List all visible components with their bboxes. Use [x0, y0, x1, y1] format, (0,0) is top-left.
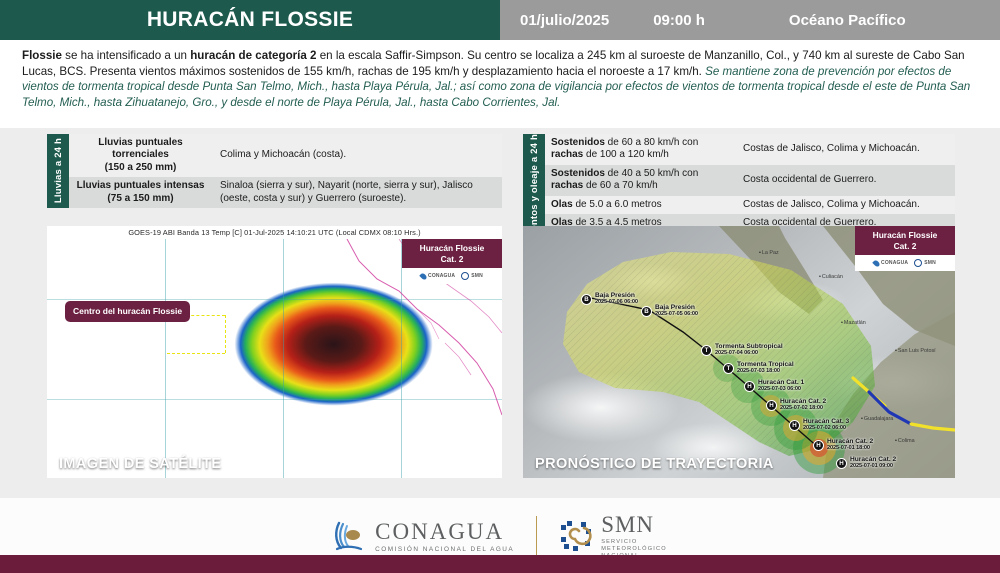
track-marker-icon: H: [836, 458, 847, 469]
goes-header-text: GOES-19 ABI Banda 13 Temp [C] 01-Jul-202…: [47, 226, 502, 239]
satellite-image: Centro del huracán Flossie Huracán Floss…: [47, 239, 502, 478]
satellite-badge-text: Huracán Flossie Cat. 2: [402, 239, 502, 268]
rain-areas-cell: Sinaloa (sierra y sur), Nayarit (norte, …: [212, 177, 502, 208]
satellite-badge-line2: Cat. 2: [404, 254, 500, 265]
track-marker-icon: B: [581, 294, 592, 305]
spiral-icon: [914, 259, 922, 267]
track-point: H Huracán Cat. 3 2025-07-02 06:00: [789, 418, 849, 433]
rain-type-cell: Lluvias puntuales intensas (75 a 150 mm): [69, 177, 212, 208]
wind-bold-2: rachas: [551, 180, 583, 191]
wave-bold-1: Olas: [551, 199, 573, 210]
satellite-badge: Huracán Flossie Cat. 2 CONAGUA SMN: [402, 239, 502, 284]
track-marker-icon: T: [701, 345, 712, 356]
wind-table-side-label-text: Vientos y oleaje a 24 h: [529, 134, 540, 240]
wind-value-cell: Sostenidos de 40 a 50 km/h con rachas de…: [545, 165, 735, 196]
rain-areas-cell: Colima y Michoacán (costa).: [212, 134, 502, 177]
wave-value-cell: Olas de 5.0 a 6.0 metros: [545, 196, 735, 214]
conagua-logo: CONAGUA COMISIÓN NACIONAL DEL AGUA: [333, 519, 514, 553]
wind-table-side-label: Vientos y oleaje a 24 h: [523, 134, 545, 240]
track-point-datetime: 2025-07-06 06:00: [595, 299, 638, 306]
track-marker-icon: H: [789, 420, 800, 431]
track-point: H Huracán Cat. 2 2025-07-01 09:00: [836, 456, 896, 471]
track-point-text: Huracán Cat. 2 2025-07-01 18:00: [827, 438, 873, 453]
track-point-datetime: 2025-07-01 09:00: [850, 463, 896, 470]
wind-bold-1: Sostenidos: [551, 137, 605, 148]
forecast-badge-line2: Cat. 2: [857, 241, 953, 252]
table-row: Lluvias puntuales intensas (75 a 150 mm)…: [69, 177, 502, 208]
infographic-page: HURACÁN FLOSSIE 01/julio/2025 09:00 h Oc…: [0, 0, 1000, 573]
smn-wordmark: SMN SERVICIO METEOROLÓGICO NACIONAL: [601, 512, 667, 560]
wind-bold-2: rachas: [551, 149, 583, 160]
forecast-panel-caption: PRONÓSTICO DE TRAYECTORIA: [535, 456, 774, 472]
city-label: La Paz: [759, 250, 779, 256]
rain-range-label: (75 a 150 mm): [107, 193, 173, 205]
header-bar: HURACÁN FLOSSIE 01/julio/2025 09:00 h Oc…: [0, 0, 1000, 40]
footer-accent-bar: [0, 555, 1000, 573]
track-marker-icon: T: [723, 363, 734, 374]
table-row: Sostenidos de 60 a 80 km/h con rachas de…: [545, 134, 955, 165]
smn-name: SMN: [601, 512, 667, 538]
track-point: B Baja Presión 2025-07-06 06:00: [581, 292, 638, 307]
track-point: H Huracán Cat. 2 2025-07-01 18:00: [813, 438, 873, 453]
page-title: HURACÁN FLOSSIE: [147, 8, 353, 32]
hurricane-center-label: Centro del huracán Flossie: [73, 306, 182, 316]
rain-table: Lluvias a 24 h Lluvias puntuales torrenc…: [47, 134, 502, 208]
track-point: H Huracán Cat. 2 2025-07-02 18:00: [766, 398, 826, 413]
rain-type-label: Lluvias puntuales torrenciales: [75, 137, 206, 162]
tables-section: Lluvias a 24 h Lluvias puntuales torrenc…: [0, 128, 1000, 220]
rain-table-rows: Lluvias puntuales torrenciales (150 a 25…: [69, 134, 502, 208]
conagua-subtitle: COMISIÓN NACIONAL DEL AGUA: [375, 546, 514, 553]
table-row: Olas de 5.0 a 6.0 metros Costas de Jalis…: [545, 196, 955, 214]
track-point: H Huracán Cat. 1 2025-07-03 06:00: [744, 379, 804, 394]
hurricane-center-callout: Centro del huracán Flossie: [65, 301, 190, 322]
smn-logo-small: SMN: [914, 259, 936, 267]
track-point-text: Huracán Cat. 1 2025-07-03 06:00: [758, 379, 804, 394]
satellite-panel: GOES-19 ABI Banda 13 Temp [C] 01-Jul-202…: [47, 226, 502, 478]
track-point-datetime: 2025-07-02 18:00: [780, 405, 826, 412]
conagua-name: CONAGUA: [375, 519, 514, 545]
wind-text-2: de 60 a 70 km/h: [583, 180, 658, 191]
track-point-datetime: 2025-07-03 06:00: [758, 386, 804, 393]
track-point-text: Huracán Cat. 2 2025-07-02 18:00: [780, 398, 826, 413]
track-point-text: Huracán Cat. 3 2025-07-02 06:00: [803, 418, 849, 433]
track-marker-icon: H: [813, 440, 824, 451]
track-marker-icon: B: [641, 306, 652, 317]
track-point-text: Baja Presión 2025-07-05 06:00: [655, 304, 698, 319]
wave-areas-cell: Costas de Jalisco, Colima y Michoacán.: [735, 196, 955, 214]
water-drop-icon: [419, 272, 427, 280]
track-marker-icon: H: [744, 381, 755, 392]
wind-text-1: de 40 a 50 km/h con: [605, 168, 698, 179]
forecast-panel: B Baja Presión 2025-07-06 06:00 B Baja P…: [523, 226, 955, 478]
conagua-logo-small: CONAGUA: [421, 273, 455, 280]
spiral-icon: [461, 272, 469, 280]
rain-table-side-label: Lluvias a 24 h: [47, 134, 69, 208]
satellite-badge-logos: CONAGUA SMN: [402, 268, 502, 284]
center-leader-line: [167, 353, 225, 354]
city-label: San Luis Potosí: [895, 348, 936, 354]
track-point-text: Baja Presión 2025-07-06 06:00: [595, 292, 638, 307]
track-point-text: Huracán Cat. 2 2025-07-01 09:00: [850, 456, 896, 471]
wind-areas-cell: Costa occidental de Guerrero.: [735, 165, 955, 196]
wind-areas-cell: Costas de Jalisco, Colima y Michoacán.: [735, 134, 955, 165]
rain-range-label: (150 a 250 mm): [105, 162, 177, 174]
wind-table-rows: Sostenidos de 60 a 80 km/h con rachas de…: [545, 134, 955, 240]
conagua-logo-small: CONAGUA: [874, 260, 908, 267]
satellite-panel-caption: IMAGEN DE SATÉLITE: [59, 456, 221, 472]
city-label: Culiacán: [819, 274, 843, 280]
conagua-logo-small-text: CONAGUA: [428, 273, 455, 279]
description-category: huracán de categoría 2: [190, 49, 316, 62]
wind-text-2: de 100 a 120 km/h: [583, 149, 669, 160]
track-point-text: Tormenta Tropical 2025-07-03 18:00: [737, 361, 794, 376]
smn-logo: SMN SERVICIO METEOROLÓGICO NACIONAL: [559, 512, 667, 560]
forecast-badge: Huracán Flossie Cat. 2 CONAGUA SMN: [855, 226, 955, 271]
track-marker-icon: H: [766, 400, 777, 411]
track-point-datetime: 2025-07-02 06:00: [803, 425, 849, 432]
city-label: Colima: [895, 438, 915, 444]
conagua-wordmark: CONAGUA COMISIÓN NACIONAL DEL AGUA: [375, 519, 514, 553]
track-point: T Tormenta Subtropical 2025-07-04 06:00: [701, 343, 783, 358]
city-label: Guadalajara: [861, 416, 893, 422]
smn-logo-small-text: SMN: [924, 260, 936, 266]
description-storm-name: Flossie: [22, 49, 62, 62]
smn-logo-small: SMN: [461, 272, 483, 280]
conagua-logo-small-text: CONAGUA: [881, 260, 908, 266]
track-point: T Tormenta Tropical 2025-07-03 18:00: [723, 361, 794, 376]
city-label: Mazatlán: [841, 320, 866, 326]
header-date: 01/julio/2025: [520, 12, 609, 29]
forecast-badge-line1: Huracán Flossie: [857, 230, 953, 241]
wind-table: Vientos y oleaje a 24 h Sostenidos de 60…: [523, 134, 955, 240]
rain-table-side-label-text: Lluvias a 24 h: [53, 138, 64, 203]
satellite-badge-line1: Huracán Flossie: [404, 243, 500, 254]
forecast-badge-logos: CONAGUA SMN: [855, 255, 955, 271]
forecast-badge-text: Huracán Flossie Cat. 2: [855, 226, 955, 255]
track-point-datetime: 2025-07-05 06:00: [655, 311, 698, 318]
table-row: Sostenidos de 40 a 50 km/h con rachas de…: [545, 165, 955, 196]
track-point-text: Tormenta Subtropical 2025-07-04 06:00: [715, 343, 783, 358]
rain-type-label: Lluvias puntuales intensas: [77, 180, 205, 192]
header-meta-block: 01/julio/2025 09:00 h Océano Pacífico: [500, 0, 1000, 40]
water-drop-icon: [872, 259, 880, 267]
forecast-map: B Baja Presión 2025-07-06 06:00 B Baja P…: [523, 226, 955, 478]
track-point-datetime: 2025-07-04 06:00: [715, 350, 783, 357]
track-point: B Baja Presión 2025-07-05 06:00: [641, 304, 698, 319]
track-point-datetime: 2025-07-03 18:00: [737, 368, 794, 375]
smn-emblem-icon: [559, 519, 593, 553]
wind-bold-1: Sostenidos: [551, 168, 605, 179]
wind-value-cell: Sostenidos de 60 a 80 km/h con rachas de…: [545, 134, 735, 165]
description-paragraph: Flossie se ha intensificado a un huracán…: [22, 48, 978, 110]
table-row: Lluvias puntuales torrenciales (150 a 25…: [69, 134, 502, 177]
footer-divider: [536, 516, 537, 556]
description-text-1: se ha intensificado a un: [62, 49, 190, 62]
wind-text-1: de 60 a 80 km/h con: [605, 137, 698, 148]
rain-type-cell: Lluvias puntuales torrenciales (150 a 25…: [69, 134, 212, 177]
center-leader-line: [225, 315, 226, 353]
header-time: 09:00 h: [653, 12, 705, 29]
header-title-block: HURACÁN FLOSSIE: [0, 0, 500, 40]
track-point-datetime: 2025-07-01 18:00: [827, 445, 873, 452]
smn-logo-small-text: SMN: [471, 273, 483, 279]
conagua-emblem-icon: [333, 519, 367, 553]
header-basin: Océano Pacífico: [789, 12, 906, 29]
wave-text-1: de 5.0 a 6.0 metros: [573, 199, 662, 210]
footer-logos: CONAGUA COMISIÓN NACIONAL DEL AGUA: [333, 512, 667, 560]
description-block: Flossie se ha intensificado a un huracán…: [0, 40, 1000, 128]
